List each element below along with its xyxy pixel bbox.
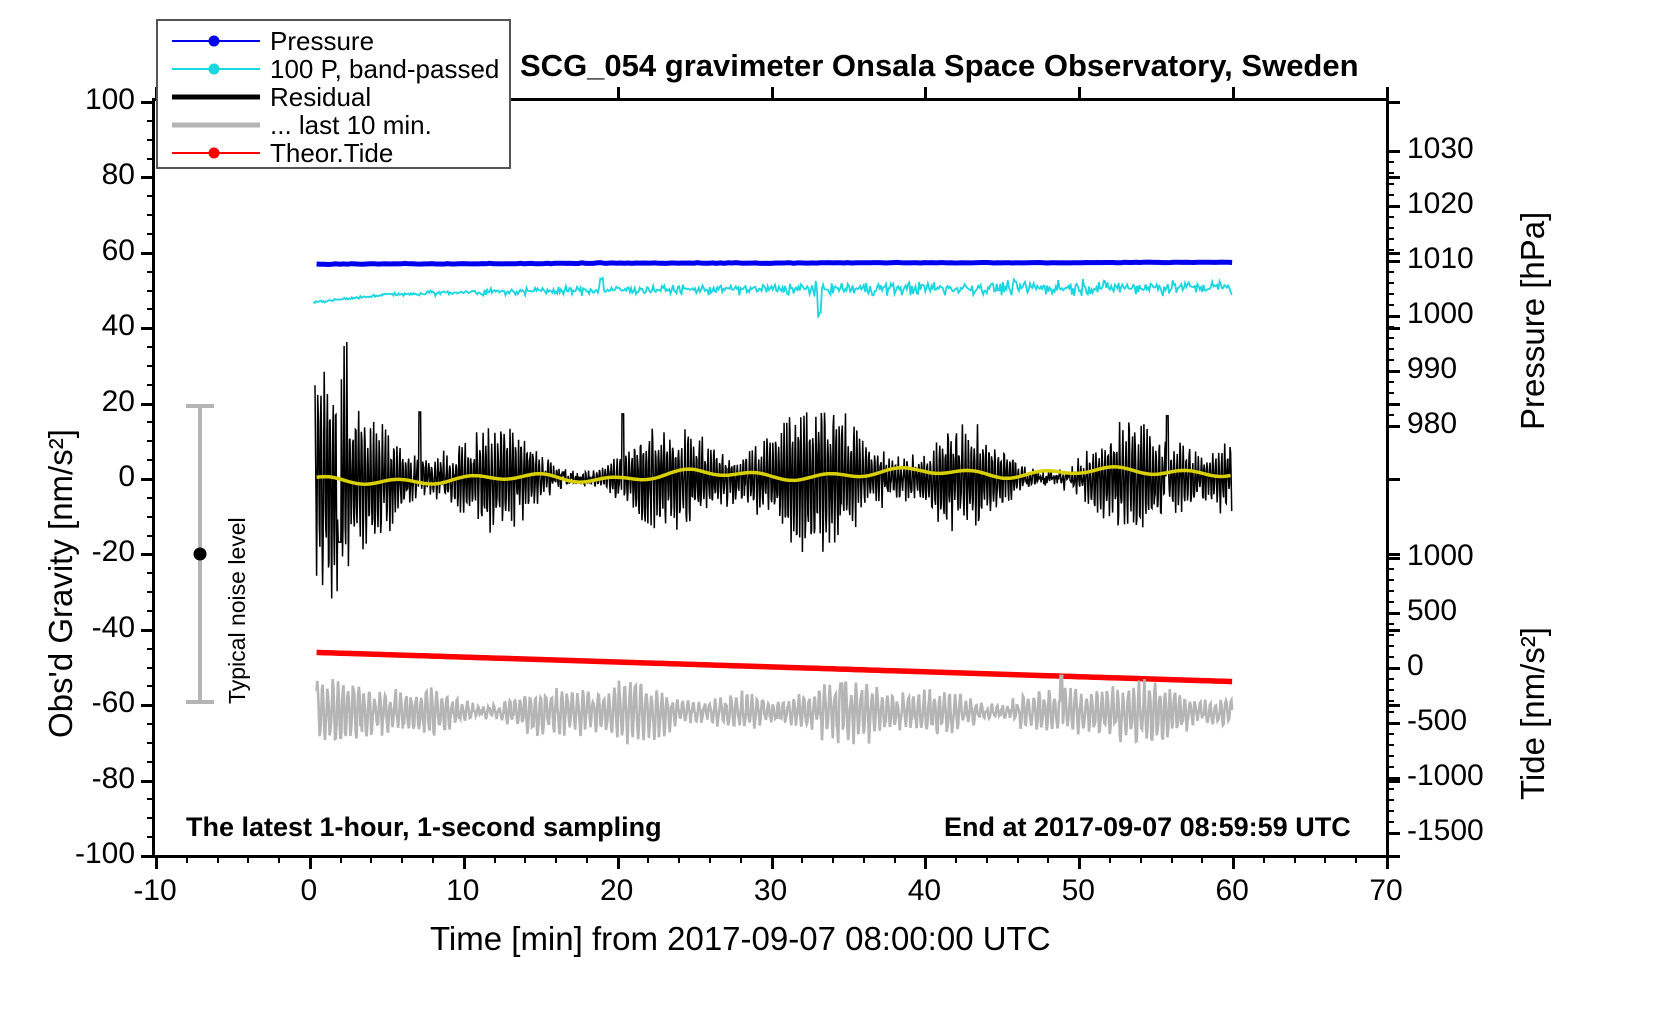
tick-mark — [141, 403, 155, 406]
tick-mark — [1171, 855, 1173, 863]
tick-mark — [1386, 744, 1394, 746]
y-left-tick-0: 0 — [0, 462, 135, 492]
chart-root: SCG_054 gravimeter Onsala Space Observat… — [0, 0, 1660, 1020]
tick-mark — [147, 440, 155, 442]
x-tick-0: 0 — [249, 876, 369, 906]
tick-mark — [1386, 194, 1394, 196]
tick-mark — [278, 855, 280, 863]
legend-swatch-icon — [172, 115, 260, 135]
tick-mark — [141, 629, 155, 632]
tick-mark — [1386, 172, 1394, 174]
tick-mark — [141, 478, 155, 481]
tick-mark — [1386, 832, 1400, 835]
tick-mark — [863, 855, 865, 863]
tick-mark — [1386, 645, 1394, 647]
y-left-tick--40: -40 — [0, 613, 135, 643]
tick-mark — [1386, 425, 1400, 428]
series-last-10-min — [317, 676, 1233, 744]
y-axis-right-top-title: Pressure [hPa] — [1514, 212, 1552, 430]
tick-mark — [147, 308, 155, 310]
y-left-tick--80: -80 — [0, 764, 135, 794]
tick-mark — [1386, 722, 1400, 725]
tick-mark — [147, 667, 155, 669]
tick-mark — [555, 855, 557, 863]
tick-mark — [1386, 711, 1394, 713]
noise-cap-bottom — [186, 700, 214, 704]
tick-mark — [709, 855, 711, 863]
tick-mark — [986, 855, 988, 863]
y-right-top-tick-1010: 1010 — [1407, 244, 1474, 274]
tick-mark — [1386, 403, 1394, 405]
annotation-bottom-left: The latest 1-hour, 1-second sampling — [186, 812, 662, 843]
tick-mark — [147, 365, 155, 367]
tick-mark — [1386, 601, 1394, 603]
tick-mark — [494, 855, 496, 863]
series-band-passed — [314, 278, 1232, 318]
tick-mark — [147, 723, 155, 725]
tick-mark — [771, 87, 774, 101]
tick-mark — [141, 101, 155, 104]
tick-mark — [1386, 634, 1394, 636]
tick-mark — [1386, 271, 1394, 273]
tick-mark — [147, 120, 155, 122]
tick-mark — [1232, 855, 1235, 869]
tick-mark — [524, 855, 526, 863]
tick-mark — [147, 233, 155, 235]
tick-mark — [1386, 370, 1400, 373]
tick-mark — [1263, 855, 1265, 863]
tick-mark — [801, 855, 803, 863]
tick-mark — [147, 685, 155, 687]
tick-mark — [1386, 821, 1394, 823]
tick-mark — [1386, 799, 1394, 801]
legend-item-2[interactable]: Residual — [172, 83, 509, 111]
y-left-tick-40: 40 — [0, 311, 135, 341]
tick-mark — [147, 195, 155, 197]
tick-mark — [678, 855, 680, 863]
plot-area — [152, 98, 1389, 858]
tick-mark — [141, 780, 155, 783]
tick-mark — [147, 836, 155, 838]
tick-mark — [771, 855, 774, 869]
tick-mark — [147, 346, 155, 348]
tick-mark — [1386, 678, 1394, 680]
y-left-tick-60: 60 — [0, 236, 135, 266]
series-theor-tide — [317, 652, 1233, 681]
y-left-tick-80: 80 — [0, 160, 135, 190]
legend-label: 100 P, band-passed — [270, 56, 499, 82]
tick-mark — [141, 176, 155, 179]
x-axis-title: Time [min] from 2017-09-07 08:00:00 UTC — [430, 920, 1051, 958]
tick-mark — [617, 87, 620, 101]
tick-mark — [1140, 855, 1142, 863]
tick-mark — [1386, 227, 1394, 229]
tick-mark — [147, 798, 155, 800]
tick-mark — [147, 572, 155, 574]
annotation-bottom-right: End at 2017-09-07 08:59:59 UTC — [944, 812, 1351, 843]
tick-mark — [832, 855, 834, 863]
tick-mark — [1386, 392, 1394, 394]
tick-mark — [1386, 579, 1394, 581]
tick-mark — [955, 855, 957, 863]
series-canvas — [155, 101, 1386, 855]
tick-mark — [147, 516, 155, 518]
tick-mark — [1355, 855, 1357, 863]
tick-mark — [1386, 326, 1394, 328]
tick-mark — [147, 648, 155, 650]
tick-mark — [1078, 855, 1081, 869]
tick-mark — [1324, 855, 1326, 863]
tick-mark — [1386, 348, 1394, 350]
tick-mark — [370, 855, 372, 863]
tick-mark — [617, 855, 620, 869]
tick-mark — [147, 384, 155, 386]
x-tick-50: 50 — [1018, 876, 1138, 906]
y-right-bottom-tick--500: -500 — [1407, 706, 1467, 736]
tick-mark — [1386, 304, 1394, 306]
x-tick-40: 40 — [864, 876, 984, 906]
x-tick-70: 70 — [1326, 876, 1446, 906]
tick-mark — [1386, 205, 1400, 208]
tick-mark — [1386, 238, 1394, 240]
x-tick-10: 10 — [403, 876, 523, 906]
tick-mark — [1386, 414, 1394, 416]
tick-mark — [1386, 557, 1400, 560]
y-left-tick-100: 100 — [0, 85, 135, 115]
tick-mark — [924, 87, 927, 101]
legend-swatch-icon — [172, 87, 260, 107]
y-axis-right-bottom-title: Tide [nm/s²] — [1514, 627, 1552, 800]
tick-mark — [401, 855, 403, 863]
tick-mark — [1232, 87, 1235, 101]
tick-mark — [1386, 700, 1394, 702]
tick-mark — [1386, 704, 1400, 707]
tick-mark — [1386, 183, 1394, 185]
tick-mark — [1386, 161, 1394, 163]
tick-mark — [1386, 216, 1394, 218]
chart-title: SCG_054 gravimeter Onsala Space Observat… — [520, 48, 1359, 84]
tick-mark — [147, 139, 155, 141]
legend-label: Residual — [270, 84, 371, 110]
legend-item-3[interactable]: ... last 10 min. — [172, 111, 509, 139]
tick-mark — [1386, 293, 1394, 295]
y-right-bottom-tick--1500: -1500 — [1407, 816, 1484, 846]
y-right-top-tick-990: 990 — [1407, 354, 1457, 384]
tick-mark — [1386, 766, 1394, 768]
tick-mark — [186, 855, 188, 863]
tick-mark — [1386, 260, 1400, 263]
tick-mark — [1386, 249, 1394, 251]
tick-mark — [1386, 623, 1394, 625]
tick-mark — [1386, 359, 1394, 361]
tick-mark — [586, 855, 588, 863]
noise-center-dot — [194, 548, 207, 561]
tick-mark — [141, 704, 155, 707]
tick-mark — [309, 855, 312, 869]
legend-item-4[interactable]: Theor.Tide — [172, 139, 509, 167]
y-right-bottom-tick--1000: -1000 — [1407, 761, 1484, 791]
tick-mark — [147, 214, 155, 216]
tick-mark — [155, 855, 158, 869]
y-right-top-tick-1020: 1020 — [1407, 189, 1474, 219]
legend: Pressure100 P, band-passedResidual... la… — [156, 19, 511, 169]
legend-swatch-icon — [172, 143, 260, 163]
tick-mark — [147, 610, 155, 612]
y-right-top-tick-980: 980 — [1407, 409, 1457, 439]
tick-mark — [894, 855, 896, 863]
tick-mark — [147, 742, 155, 744]
tick-mark — [1109, 855, 1111, 863]
tick-mark — [147, 535, 155, 537]
tick-mark — [1386, 629, 1400, 632]
tick-mark — [141, 252, 155, 255]
y-left-tick--60: -60 — [0, 688, 135, 718]
y-left-tick-20: 20 — [0, 387, 135, 417]
tick-mark — [141, 855, 155, 858]
tick-mark — [147, 271, 155, 273]
tick-mark — [1386, 553, 1400, 556]
tick-mark — [432, 855, 434, 863]
tick-mark — [740, 855, 742, 863]
tick-mark — [217, 855, 219, 863]
tick-mark — [924, 855, 927, 869]
legend-swatch-icon — [172, 59, 260, 79]
tick-mark — [1386, 689, 1394, 691]
tick-mark — [147, 290, 155, 292]
legend-item-1[interactable]: 100 P, band-passed — [172, 55, 509, 83]
tick-mark — [1386, 315, 1400, 318]
tick-mark — [1386, 282, 1394, 284]
tick-mark — [1386, 176, 1400, 179]
series-pressure — [317, 262, 1233, 264]
tick-mark — [647, 855, 649, 863]
tick-mark — [1386, 612, 1400, 615]
legend-label: Theor.Tide — [270, 140, 393, 166]
tick-mark — [1386, 788, 1394, 790]
y-left-tick--20: -20 — [0, 537, 135, 567]
tick-mark — [1386, 810, 1394, 812]
legend-item-0[interactable]: Pressure — [172, 27, 509, 55]
y-left-tick--100: -100 — [0, 839, 135, 869]
tick-mark — [1386, 87, 1389, 101]
legend-label: Pressure — [270, 28, 374, 54]
y-right-bottom-tick-500: 500 — [1407, 596, 1457, 626]
tick-mark — [340, 855, 342, 863]
tick-mark — [1386, 101, 1400, 104]
tick-mark — [1386, 667, 1400, 670]
x-tick-30: 30 — [711, 876, 831, 906]
tick-mark — [1386, 656, 1394, 658]
tick-mark — [1078, 87, 1081, 101]
tick-mark — [247, 855, 249, 863]
legend-swatch-icon — [172, 31, 260, 51]
x-tick--10: -10 — [95, 876, 215, 906]
tick-mark — [1017, 855, 1019, 863]
tick-mark — [1047, 855, 1049, 863]
tick-mark — [1386, 777, 1400, 780]
legend-label: ... last 10 min. — [270, 112, 432, 138]
tick-mark — [147, 817, 155, 819]
tick-mark — [1386, 590, 1394, 592]
tick-mark — [141, 327, 155, 330]
tick-mark — [1386, 381, 1394, 383]
y-right-top-tick-1000: 1000 — [1407, 299, 1474, 329]
tick-mark — [1386, 337, 1394, 339]
tick-mark — [141, 553, 155, 556]
tick-mark — [147, 591, 155, 593]
tick-mark — [147, 497, 155, 499]
tick-mark — [1386, 252, 1400, 255]
noise-level-label: Typical noise level — [224, 517, 251, 704]
tick-mark — [1294, 855, 1296, 863]
tick-mark — [1386, 733, 1394, 735]
x-tick-20: 20 — [557, 876, 677, 906]
noise-level-marker: Typical noise level — [178, 404, 248, 704]
tick-mark — [463, 855, 466, 869]
tick-mark — [147, 158, 155, 160]
noise-cap-top — [186, 404, 214, 408]
tick-mark — [1386, 568, 1394, 570]
tick-mark — [1386, 150, 1400, 153]
x-tick-60: 60 — [1172, 876, 1292, 906]
y-right-top-tick-1030: 1030 — [1407, 134, 1474, 164]
tick-mark — [147, 459, 155, 461]
y-right-bottom-tick-0: 0 — [1407, 651, 1424, 681]
tick-mark — [147, 761, 155, 763]
tick-mark — [147, 421, 155, 423]
tick-mark — [1386, 755, 1394, 757]
tick-mark — [1386, 855, 1389, 869]
y-right-bottom-tick-1000: 1000 — [1407, 541, 1474, 571]
tick-mark — [1386, 478, 1400, 481]
tick-mark — [1201, 855, 1203, 863]
